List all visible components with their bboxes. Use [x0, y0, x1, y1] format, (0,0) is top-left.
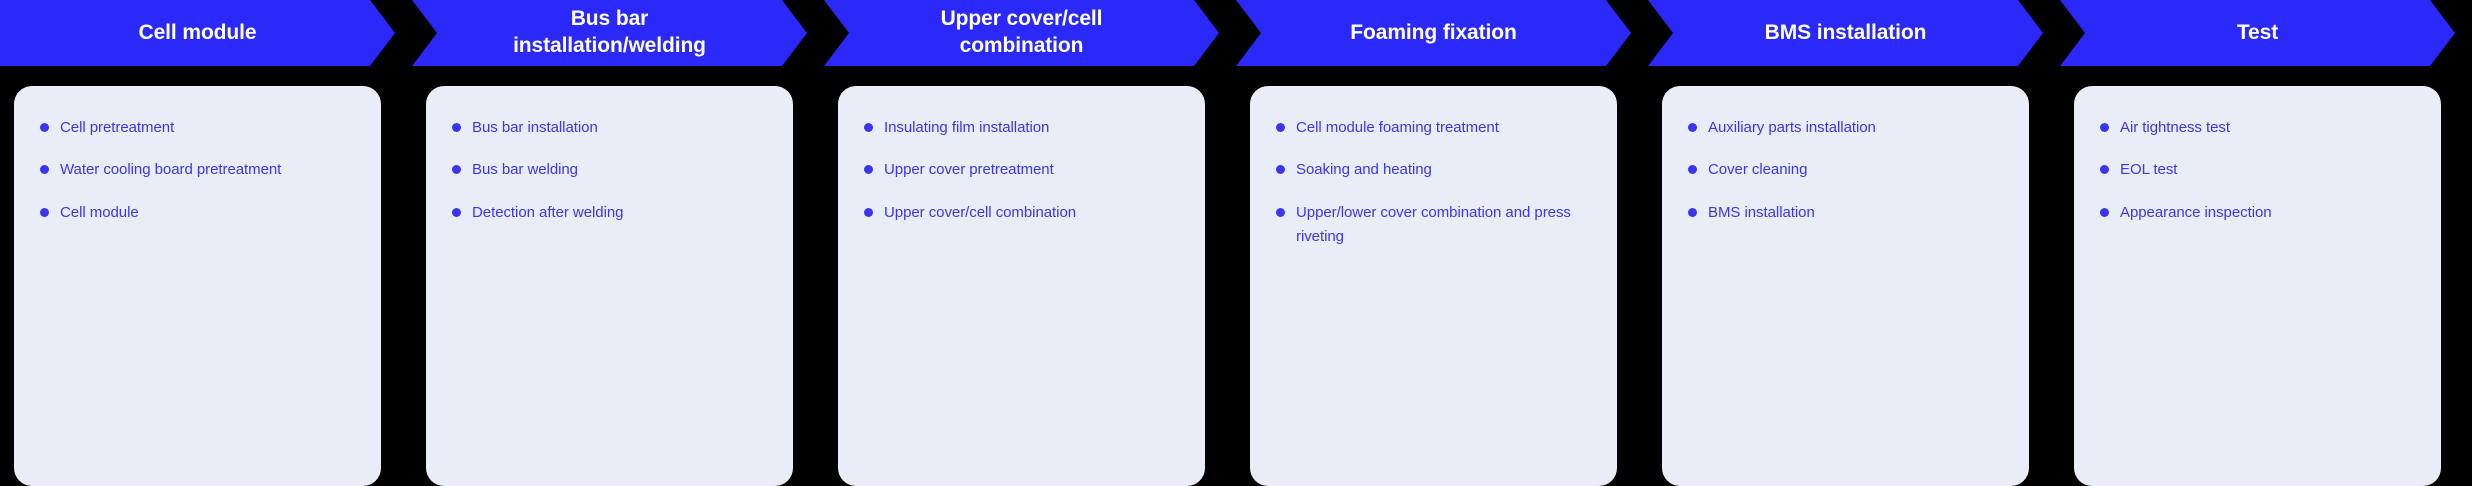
- process-step-5: BMS installationAuxiliary parts installa…: [1648, 0, 2043, 456]
- step-task-list-3: Insulating film installationUpper cover …: [864, 116, 1179, 225]
- step-chevron-4[interactable]: Foaming fixation: [1236, 0, 1631, 66]
- step-task-list-2: Bus bar installationBus bar weldingDetec…: [452, 116, 767, 225]
- bullet-dot-icon: [40, 123, 49, 132]
- bullet-dot-icon: [1276, 208, 1285, 217]
- task-label: Bus bar welding: [472, 158, 578, 182]
- bullet-dot-icon: [40, 208, 49, 217]
- list-item: Cell module foaming treatment: [1276, 116, 1591, 140]
- list-item: Water cooling board pretreatment: [40, 158, 355, 182]
- list-item: Upper cover pretreatment: [864, 158, 1179, 182]
- bullet-dot-icon: [1276, 165, 1285, 174]
- task-label: Soaking and heating: [1296, 158, 1432, 182]
- task-label: Auxiliary parts installation: [1708, 116, 1876, 140]
- list-item: Insulating film installation: [864, 116, 1179, 140]
- task-label: Upper cover pretreatment: [884, 158, 1054, 182]
- process-step-6: TestAir tightness testEOL testAppearance…: [2060, 0, 2455, 456]
- list-item: Auxiliary parts installation: [1688, 116, 2003, 140]
- process-step-2: Bus bar installation/weldingBus bar inst…: [412, 0, 807, 456]
- bullet-dot-icon: [452, 123, 461, 132]
- bullet-dot-icon: [452, 208, 461, 217]
- step-title-1: Cell module: [139, 20, 257, 47]
- task-label: BMS installation: [1708, 201, 1815, 225]
- list-item: Cell module: [40, 201, 355, 225]
- step-title-3: Upper cover/cell combination: [941, 6, 1103, 60]
- bullet-dot-icon: [864, 208, 873, 217]
- list-item: Cell pretreatment: [40, 116, 355, 140]
- step-task-list-5: Auxiliary parts installationCover cleani…: [1688, 116, 2003, 225]
- step-title-6: Test: [2237, 20, 2278, 47]
- task-label: Cell module: [60, 201, 139, 225]
- process-step-4: Foaming fixationCell module foaming trea…: [1236, 0, 1631, 456]
- task-label: Cover cleaning: [1708, 158, 1807, 182]
- task-label: Upper cover/cell combination: [884, 201, 1076, 225]
- process-step-1: Cell moduleCell pretreatmentWater coolin…: [0, 0, 395, 456]
- task-label: Upper/lower cover combination and press …: [1296, 201, 1591, 250]
- task-label: Water cooling board pretreatment: [60, 158, 281, 182]
- list-item: Bus bar welding: [452, 158, 767, 182]
- list-item: Air tightness test: [2100, 116, 2415, 140]
- task-label: Air tightness test: [2120, 116, 2230, 140]
- bullet-dot-icon: [1688, 165, 1697, 174]
- list-item: Appearance inspection: [2100, 201, 2415, 225]
- process-step-3: Upper cover/cell combinationInsulating f…: [824, 0, 1219, 456]
- step-chevron-5[interactable]: BMS installation: [1648, 0, 2043, 66]
- task-label: Appearance inspection: [2120, 201, 2272, 225]
- step-card-2: Bus bar installationBus bar weldingDetec…: [426, 86, 793, 486]
- step-chevron-2[interactable]: Bus bar installation/welding: [412, 0, 807, 66]
- step-card-1: Cell pretreatmentWater cooling board pre…: [14, 86, 381, 486]
- step-chevron-1[interactable]: Cell module: [0, 0, 395, 66]
- list-item: Bus bar installation: [452, 116, 767, 140]
- list-item: EOL test: [2100, 158, 2415, 182]
- step-task-list-6: Air tightness testEOL testAppearance ins…: [2100, 116, 2415, 225]
- step-card-3: Insulating film installationUpper cover …: [838, 86, 1205, 486]
- bullet-dot-icon: [2100, 165, 2109, 174]
- list-item: Upper/lower cover combination and press …: [1276, 201, 1591, 250]
- bullet-dot-icon: [1688, 123, 1697, 132]
- step-card-6: Air tightness testEOL testAppearance ins…: [2074, 86, 2441, 486]
- bullet-dot-icon: [864, 165, 873, 174]
- bullet-dot-icon: [40, 165, 49, 174]
- step-title-5: BMS installation: [1765, 20, 1927, 47]
- bullet-dot-icon: [452, 165, 461, 174]
- list-item: Detection after welding: [452, 201, 767, 225]
- task-label: Insulating film installation: [884, 116, 1049, 140]
- task-label: Cell module foaming treatment: [1296, 116, 1499, 140]
- step-task-list-1: Cell pretreatmentWater cooling board pre…: [40, 116, 355, 225]
- task-label: Cell pretreatment: [60, 116, 174, 140]
- step-task-list-4: Cell module foaming treatmentSoaking and…: [1276, 116, 1591, 249]
- bullet-dot-icon: [1276, 123, 1285, 132]
- task-label: Detection after welding: [472, 201, 623, 225]
- step-title-4: Foaming fixation: [1350, 20, 1516, 47]
- bullet-dot-icon: [2100, 208, 2109, 217]
- bullet-dot-icon: [1688, 208, 1697, 217]
- process-flow-diagram: Cell moduleCell pretreatmentWater coolin…: [0, 0, 2472, 456]
- step-card-4: Cell module foaming treatmentSoaking and…: [1250, 86, 1617, 486]
- list-item: BMS installation: [1688, 201, 2003, 225]
- list-item: Cover cleaning: [1688, 158, 2003, 182]
- list-item: Upper cover/cell combination: [864, 201, 1179, 225]
- task-label: Bus bar installation: [472, 116, 598, 140]
- bullet-dot-icon: [2100, 123, 2109, 132]
- step-title-2: Bus bar installation/welding: [513, 6, 706, 60]
- step-chevron-3[interactable]: Upper cover/cell combination: [824, 0, 1219, 66]
- bullet-dot-icon: [864, 123, 873, 132]
- step-card-5: Auxiliary parts installationCover cleani…: [1662, 86, 2029, 486]
- step-chevron-6[interactable]: Test: [2060, 0, 2455, 66]
- task-label: EOL test: [2120, 158, 2177, 182]
- list-item: Soaking and heating: [1276, 158, 1591, 182]
